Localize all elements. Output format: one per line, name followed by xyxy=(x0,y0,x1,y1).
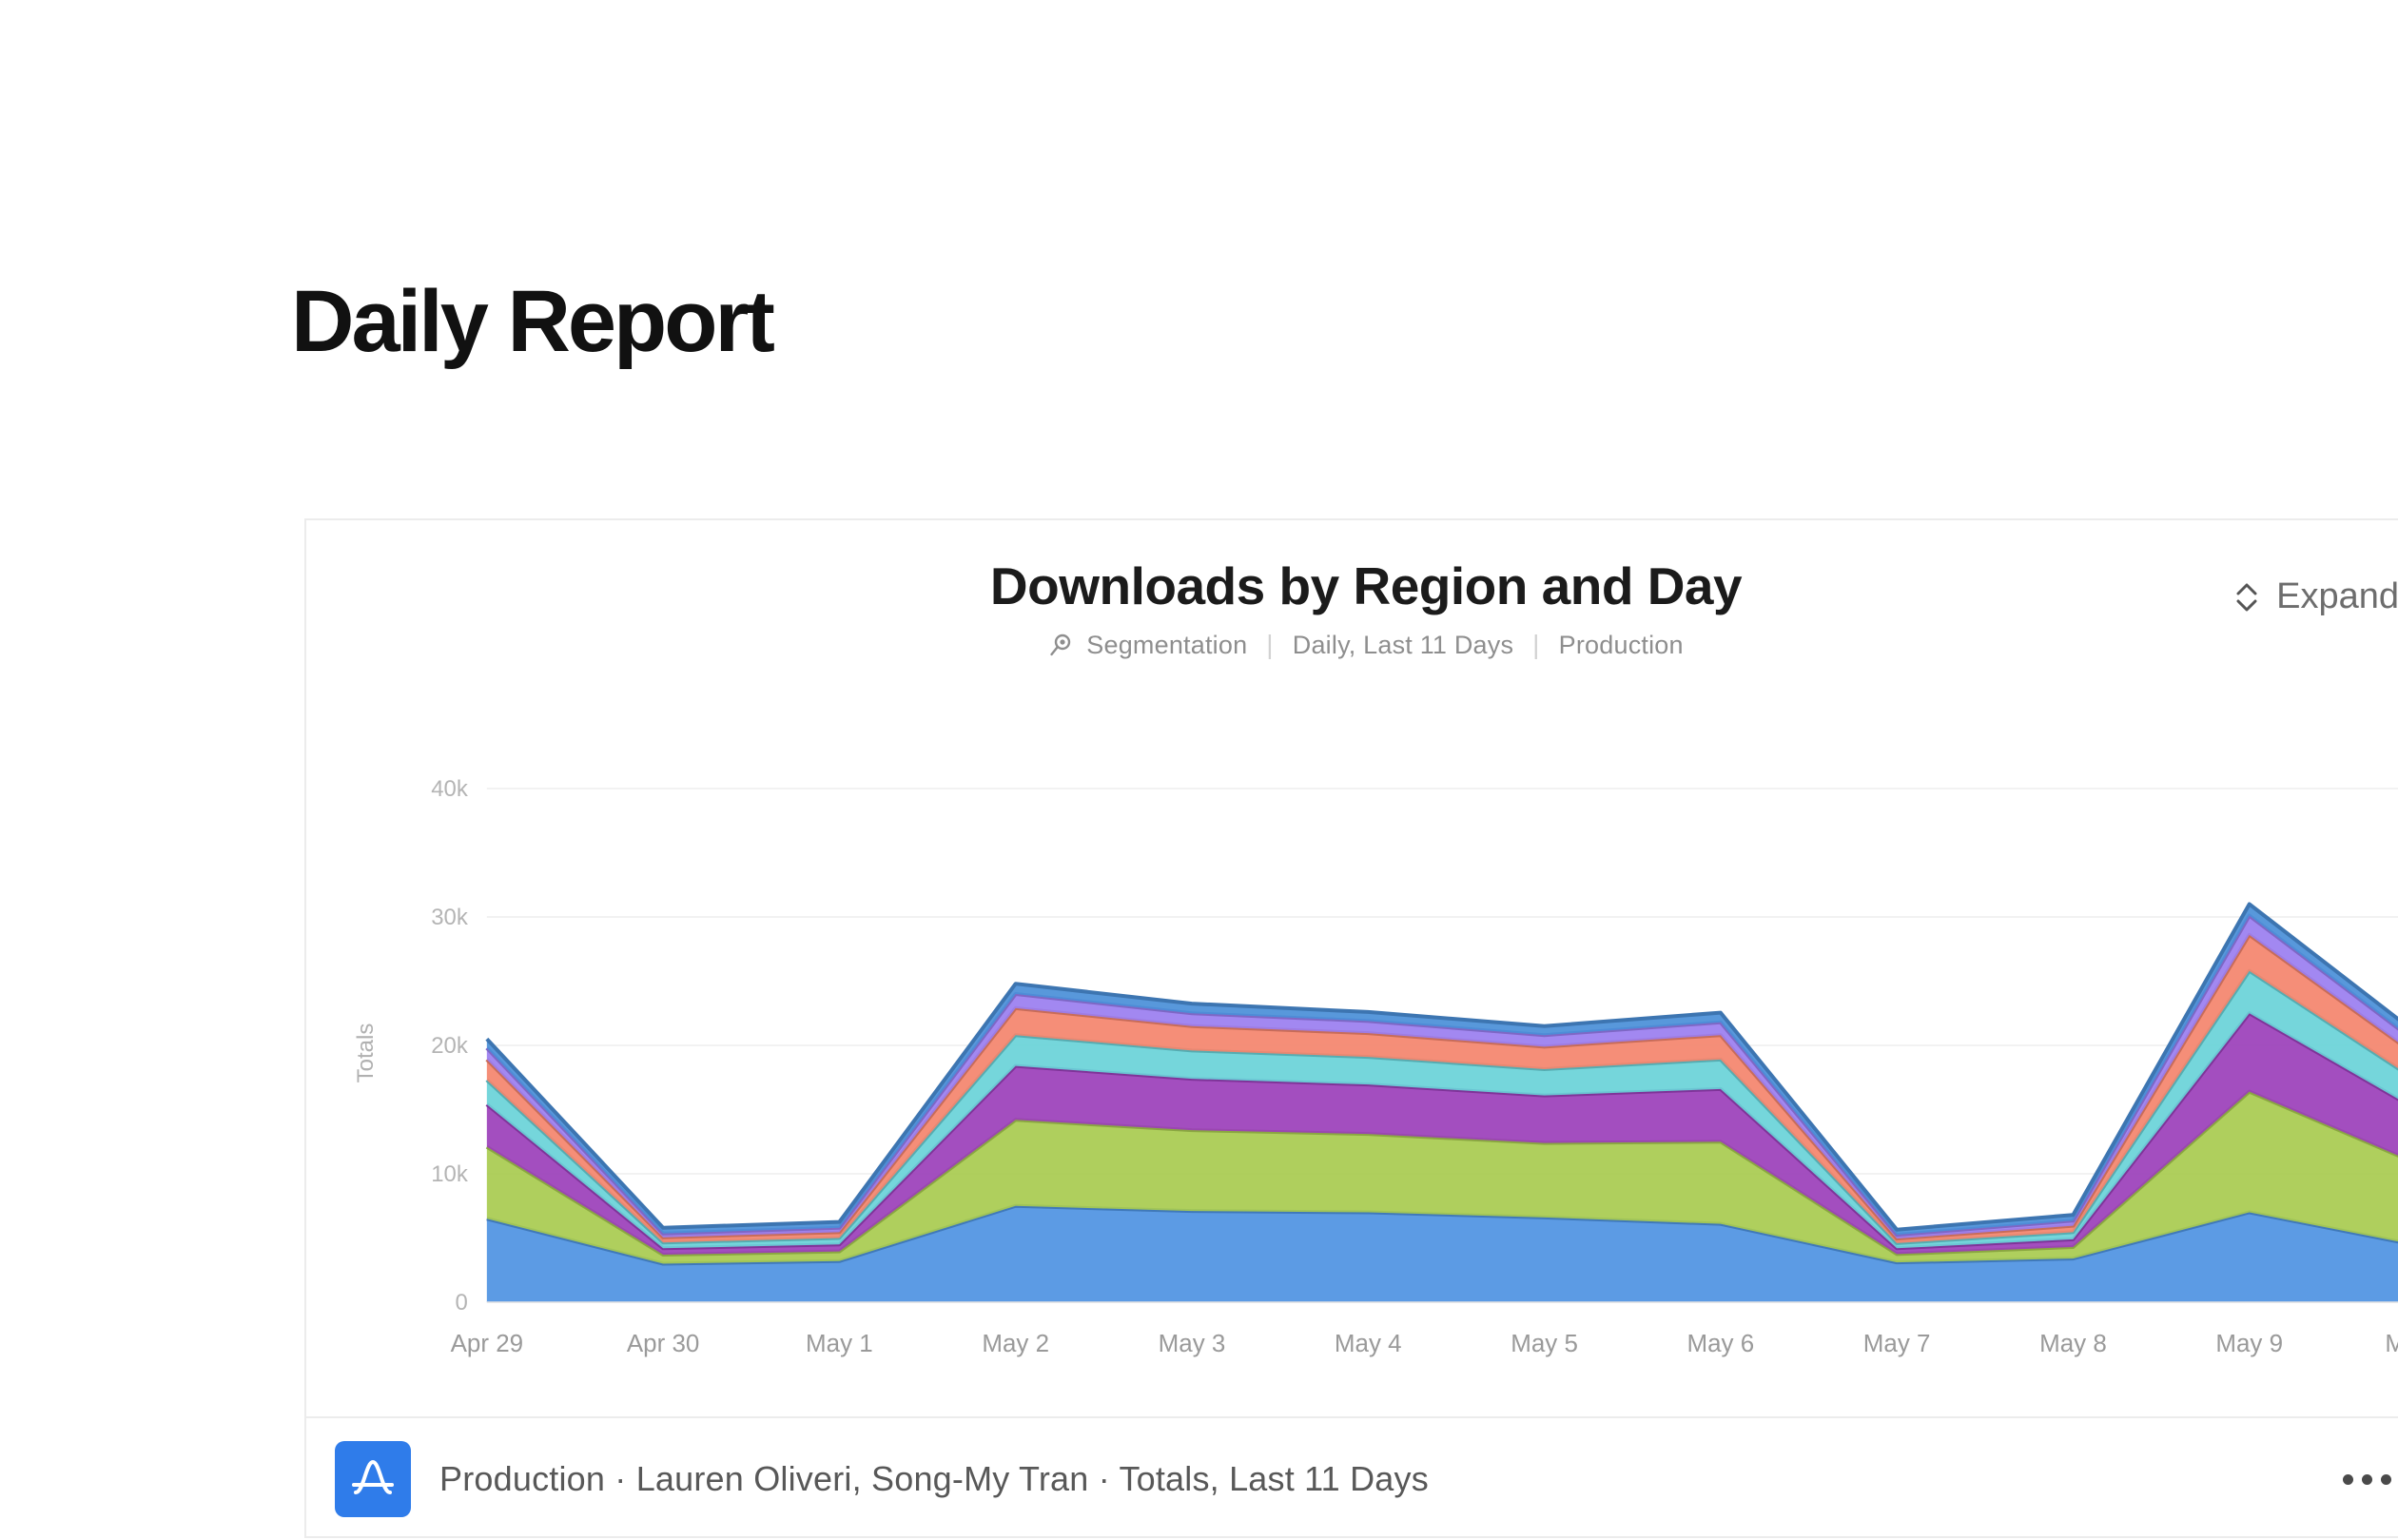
x-tick-label: Apr 30 xyxy=(627,1329,699,1357)
x-tick-label: May 5 xyxy=(1511,1329,1578,1357)
report-card: Downloads by Region and Day Segmentation… xyxy=(304,518,2398,1538)
page-title: Daily Report xyxy=(291,278,772,365)
x-tick-label: Apr 29 xyxy=(451,1329,523,1357)
chart-plot-area[interactable]: 010k20k30k40kTotalsApr 29Apr 30May 1May … xyxy=(306,520,2398,1416)
x-tick-label: May 3 xyxy=(1159,1329,1226,1357)
x-tick-label: May 1 xyxy=(806,1329,873,1357)
y-tick-label: 20k xyxy=(431,1033,469,1059)
x-tick-label: May 4 xyxy=(1335,1329,1402,1357)
y-tick-label: 0 xyxy=(456,1290,468,1316)
x-tick-label: May 2 xyxy=(982,1329,1049,1357)
amplitude-app-icon xyxy=(335,1441,411,1517)
more-dot-2 xyxy=(2362,1474,2372,1485)
x-tick-label: May 10 xyxy=(2385,1329,2398,1357)
more-dot-1 xyxy=(2343,1474,2353,1485)
y-axis-title: Totals xyxy=(353,1023,379,1083)
more-horizontal-icon[interactable] xyxy=(2335,1459,2398,1500)
x-tick-label: May 6 xyxy=(1687,1329,1755,1357)
chart-block: Downloads by Region and Day Segmentation… xyxy=(306,520,2398,1416)
y-tick-label: 10k xyxy=(431,1161,469,1187)
y-tick-label: 40k xyxy=(431,776,469,802)
footer-text: Production · Lauren Oliveri, Song-My Tra… xyxy=(439,1459,1429,1499)
card-footer: Production · Lauren Oliveri, Song-My Tra… xyxy=(306,1416,2398,1540)
x-tick-label: May 8 xyxy=(2039,1329,2107,1357)
y-tick-label: 30k xyxy=(431,905,469,930)
x-tick-label: May 9 xyxy=(2215,1329,2283,1357)
stacked-area-chart: 010k20k30k40kTotalsApr 29Apr 30May 1May … xyxy=(306,520,2398,1416)
more-dot-3 xyxy=(2381,1474,2391,1485)
x-tick-label: May 7 xyxy=(1863,1329,1931,1357)
